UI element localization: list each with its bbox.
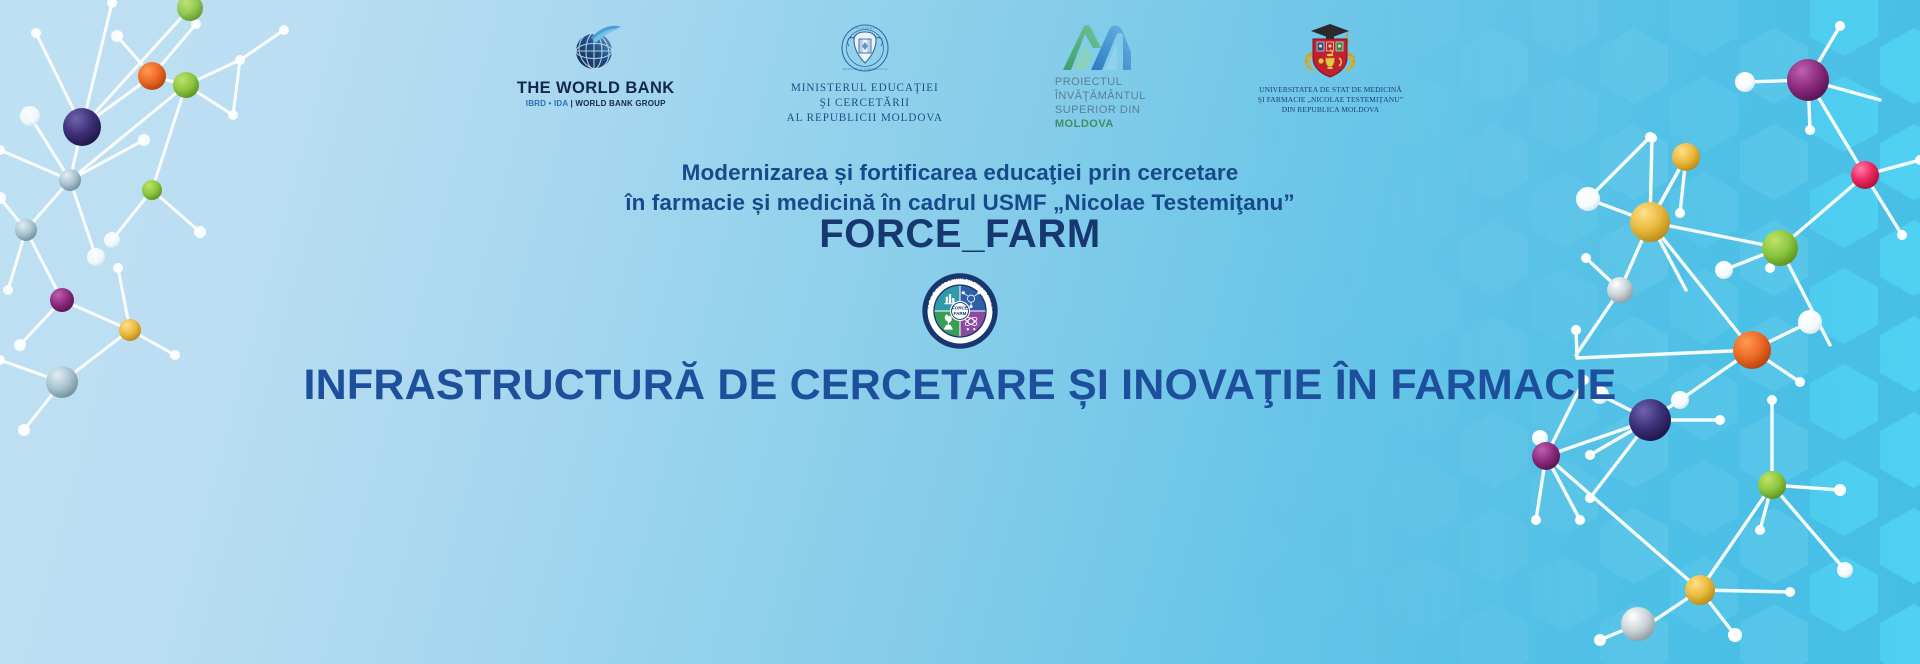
banner-content: THE WORLD BANK IBRD • IDA | WORLD BANK G… bbox=[0, 0, 1920, 664]
ministry-wordmark: MINISTERUL EDUCAŢIEI ŞI CERCETĂRII AL RE… bbox=[787, 81, 943, 125]
project-line-4: MOLDOVA bbox=[1055, 118, 1146, 132]
emblem-center-line-1: FORCE bbox=[952, 306, 968, 311]
ministry-line-2: ŞI CERCETĂRII bbox=[787, 96, 943, 111]
svg-text:M I N I S T E R U L: M I N I S T E R U L bbox=[852, 26, 878, 30]
emblem-center-line-2: FARM bbox=[954, 311, 967, 316]
project-subtitle-line-1: Modernizarea și fortificarea educaţiei p… bbox=[0, 158, 1920, 188]
project-line-1: PROIECTUL bbox=[1055, 76, 1146, 90]
world-bank-subline: IBRD • IDA | WORLD BANK GROUP bbox=[517, 100, 675, 108]
logo-world-bank: THE WORLD BANK IBRD • IDA | WORLD BANK G… bbox=[517, 22, 675, 108]
svg-text:R E P U B L I C I I M O L D: R E P U B L I C I I M O L D O V A bbox=[842, 67, 887, 71]
project-wordmark: PROIECTUL ÎNVĂŢĂMÂNTUL SUPERIOR DIN MOLD… bbox=[1055, 76, 1146, 131]
mountain-book-icon bbox=[1061, 22, 1139, 72]
banner-main-title: INFRASTRUCTURĂ DE CERCETARE ȘI INOVAŢIE … bbox=[0, 361, 1920, 410]
logo-ministry-of-education: M I N I S T E R U L R E P U B L I C I I … bbox=[787, 22, 943, 125]
logo-higher-education-project: PROIECTUL ÎNVĂŢĂMÂNTUL SUPERIOR DIN MOLD… bbox=[1055, 22, 1146, 131]
promotional-banner: THE WORLD BANK IBRD • IDA | WORLD BANK G… bbox=[0, 0, 1920, 664]
partner-logos-row: THE WORLD BANK IBRD • IDA | WORLD BANK G… bbox=[0, 22, 1920, 131]
world-bank-group: WORLD BANK GROUP bbox=[575, 99, 665, 108]
world-bank-name: THE WORLD BANK bbox=[517, 80, 675, 97]
usmf-line-2: ŞI FARMACIE „NICOLAE TESTEMIŢANU” bbox=[1258, 95, 1403, 105]
globe-icon bbox=[569, 22, 623, 76]
world-bank-ibrd-ida: IBRD • IDA bbox=[526, 99, 568, 108]
force-farm-emblem-wrapper: CENTRUL DE DEZVOLTARE AL MEDICAMENTULUI bbox=[0, 272, 1920, 350]
force-farm-emblem-icon: CENTRUL DE DEZVOLTARE AL MEDICAMENTULUI bbox=[921, 272, 999, 350]
project-line-2: ÎNVĂŢĂMÂNTUL bbox=[1055, 90, 1146, 104]
world-bank-wordmark: THE WORLD BANK IBRD • IDA | WORLD BANK G… bbox=[517, 80, 675, 108]
ministry-line-1: MINISTERUL EDUCAŢIEI bbox=[787, 81, 943, 96]
project-subtitle: Modernizarea și fortificarea educaţiei p… bbox=[0, 158, 1920, 218]
moldova-state-seal-icon: M I N I S T E R U L R E P U B L I C I I … bbox=[840, 22, 890, 74]
project-line-3: SUPERIOR DIN bbox=[1055, 104, 1146, 118]
logo-usmf-nicolae-testemitanu: UNIVERSITATEA DE STAT DE MEDICINĂ ŞI FAR… bbox=[1258, 22, 1403, 115]
ministry-line-3: AL REPUBLICII MOLDOVA bbox=[787, 111, 943, 126]
usmf-line-3: DIN REPUBLICA MOLDOVA bbox=[1258, 105, 1403, 115]
usmf-line-1: UNIVERSITATEA DE STAT DE MEDICINĂ bbox=[1258, 85, 1403, 95]
university-crest-icon bbox=[1297, 22, 1363, 80]
project-acronym: FORCE_FARM bbox=[0, 212, 1920, 257]
world-bank-divider: | bbox=[570, 99, 572, 108]
usmf-wordmark: UNIVERSITATEA DE STAT DE MEDICINĂ ŞI FAR… bbox=[1258, 85, 1403, 115]
